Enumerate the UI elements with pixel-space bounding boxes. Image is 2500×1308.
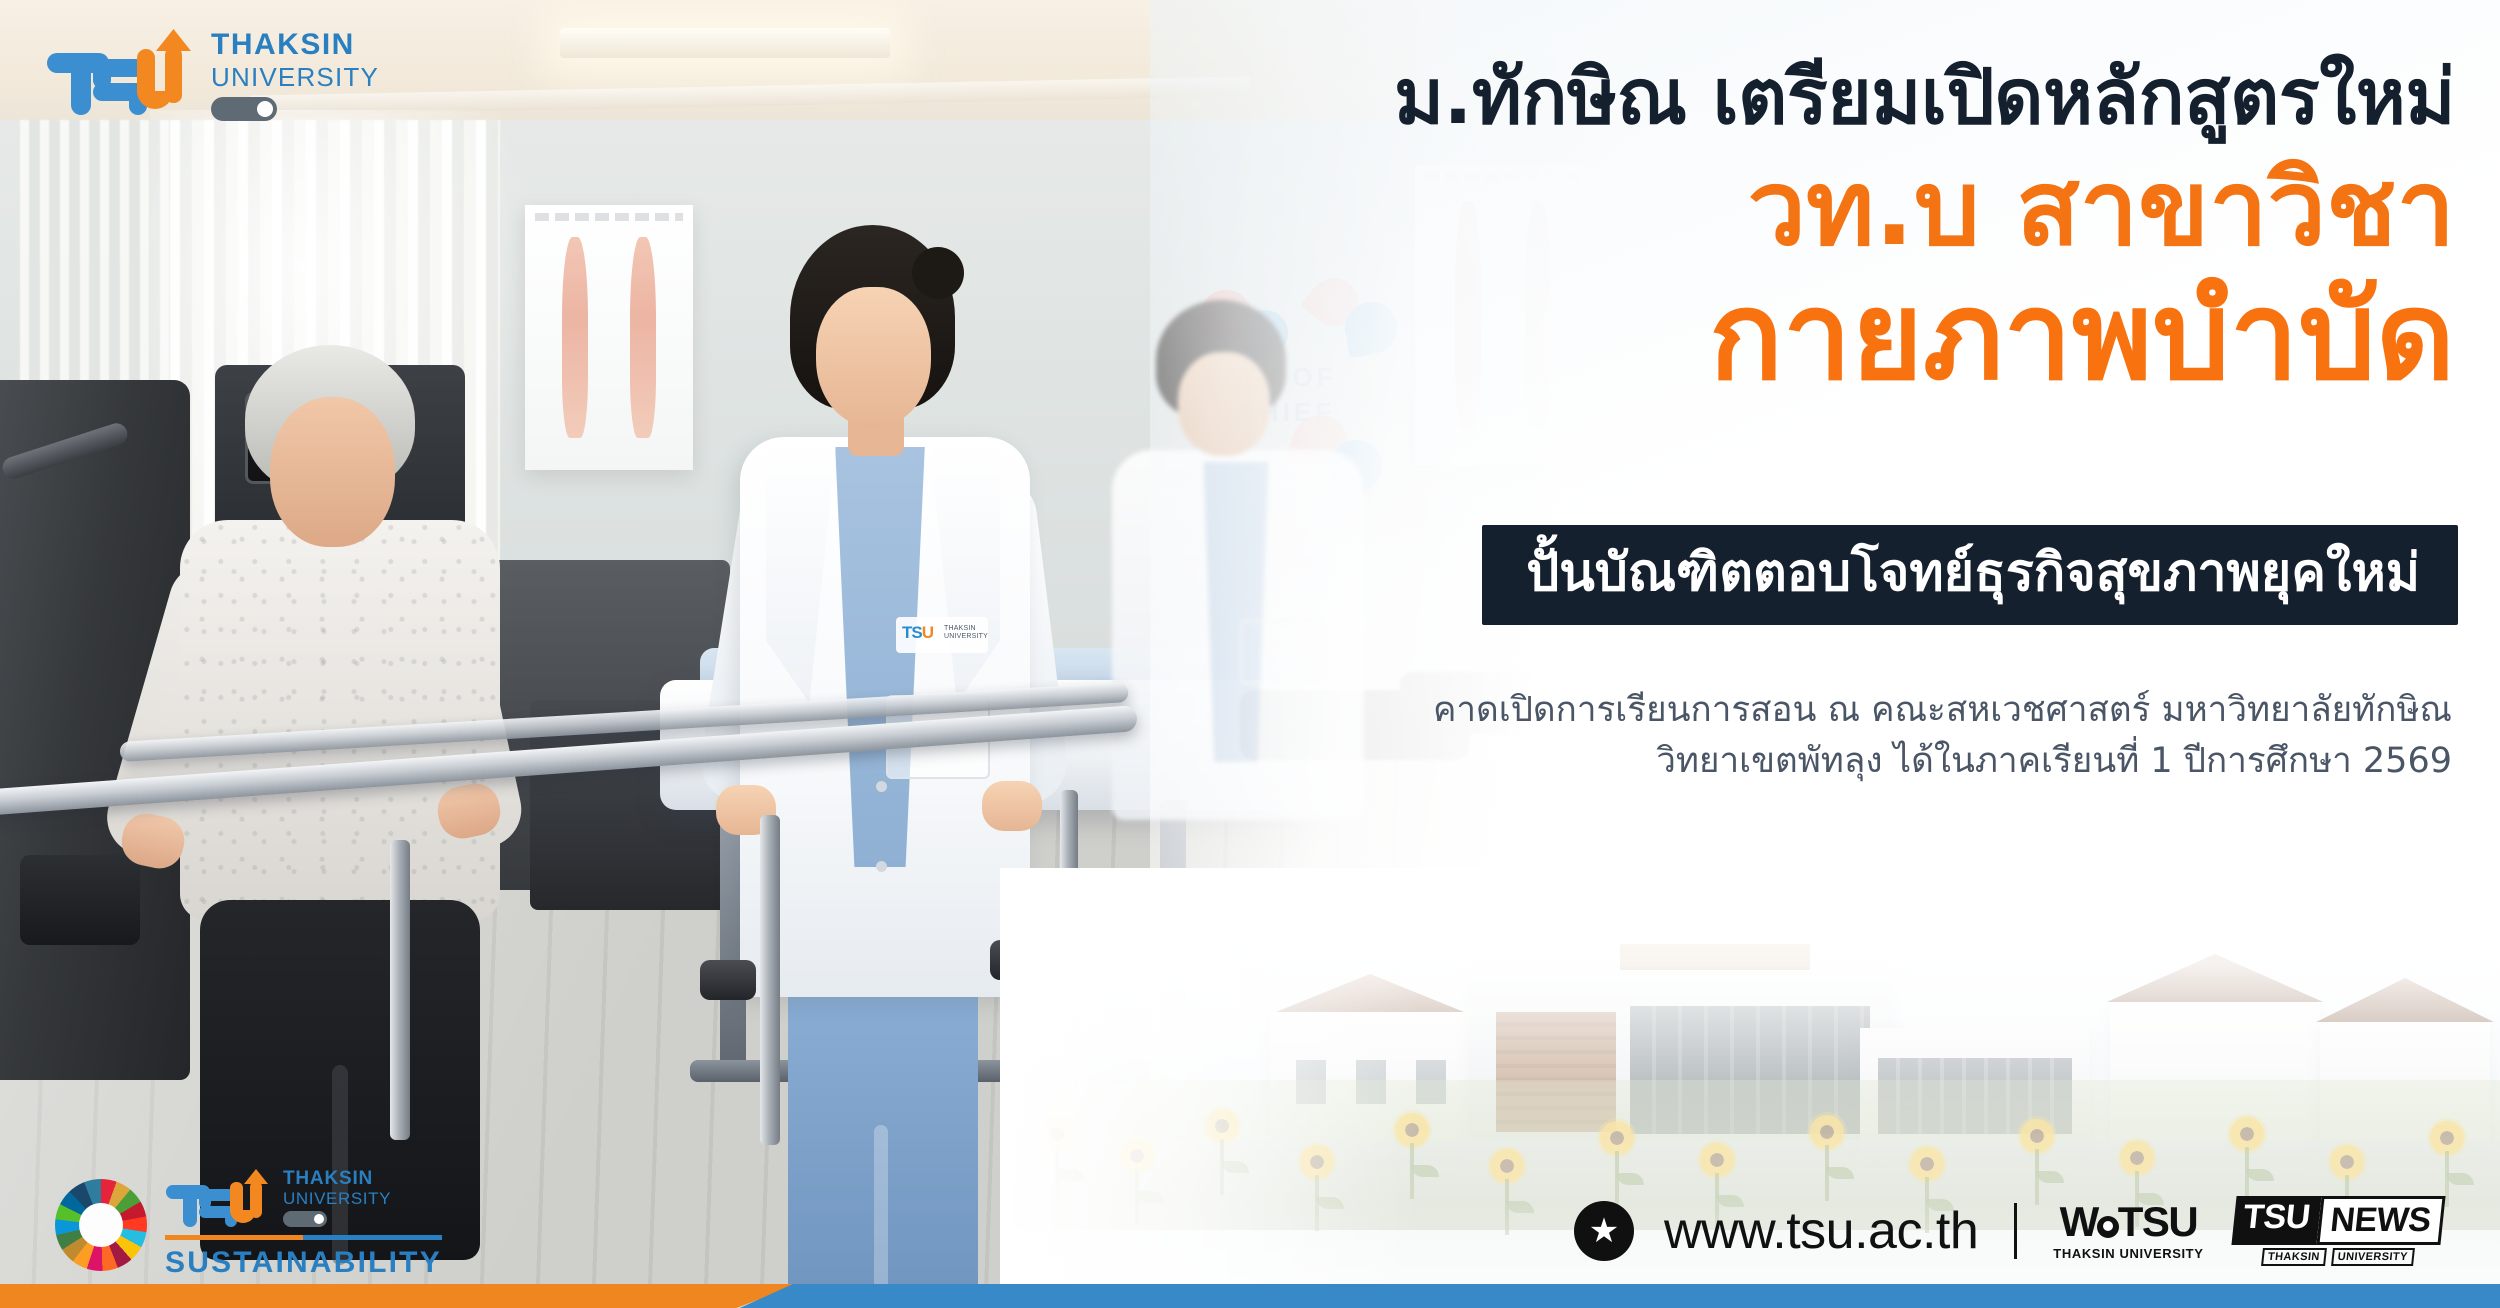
coat-badge-caption-line2: UNIVERSITY (944, 633, 988, 641)
wetsu-we-letter: W (2060, 1198, 2098, 1245)
wetsu-wordmark: WTSU (2060, 1201, 2198, 1243)
campus-white-veil-left (1000, 868, 1420, 1308)
therapist-face (816, 287, 931, 427)
promo-banner: TV OF THIEF (0, 0, 2500, 1308)
tsu-logo-line-1: THAKSIN (211, 30, 379, 60)
ceiling-light (560, 28, 890, 58)
sustainability-text-block: THAKSIN UNIVERSITY SUSTAINABILITY (165, 1169, 442, 1280)
coat-badge-initials: TSU (902, 623, 933, 643)
tsu-news-news: NEWS (2315, 1196, 2444, 1245)
enrollment-note: คาดเปิดการเรียนการสอน ณ คณะสหเวชศาสตร์ ม… (1433, 685, 2452, 787)
headline-line-2: วท.บ สาขาวิชา (1215, 152, 2455, 264)
coat-badge-caption-line1: THAKSIN (944, 625, 988, 633)
wetsu-subcaption: THAKSIN UNIVERSITY (2053, 1246, 2203, 1261)
divider-orange-segment (165, 1235, 303, 1240)
star-glyph: ★ (1589, 1214, 1619, 1248)
tsu-logo-line-2: UNIVERSITY (211, 64, 379, 90)
tsu-logo-header[interactable]: THAKSIN UNIVERSITY (45, 22, 379, 121)
therapist-hair-bun (912, 247, 964, 299)
tsu-logo-mark-icon (45, 29, 197, 115)
patient-face (270, 397, 395, 547)
tsu-news-subcaption: THAKSIN UNIVERSITY (2261, 1248, 2415, 1266)
tsu-news-wordmark: TSU NEWS (2231, 1196, 2445, 1245)
footer-links: ★ www.tsu.ac.th WTSU THAKSIN UNIVERSITY … (1574, 1196, 2442, 1266)
enrollment-note-line-1: คาดเปิดการเรียนการสอน ณ คณะสหเวชศาสตร์ ม… (1433, 685, 2452, 736)
subtitle-badge-text: ปั้นบัณฑิตตอบโจทย์ธุรกิจสุขภาพยุคใหม่ (1526, 547, 2420, 599)
bottom-stripe-orange (0, 1284, 800, 1308)
poster-figure (630, 237, 656, 438)
sustainability-logo[interactable]: THAKSIN UNIVERSITY SUSTAINABILITY (55, 1169, 442, 1280)
bottom-stripe (0, 1284, 2500, 1308)
therapist-hand-right (982, 781, 1042, 831)
therapist-coat-logo-badge: TSU THAKSIN UNIVERSITY (896, 617, 988, 653)
sustainability-word: SUSTAINABILITY (165, 1246, 442, 1280)
headline-line-1: ม.ทักษิณ เตรียมเปิดหลักสูตรใหม่ (1215, 58, 2455, 136)
sustainability-line-2: UNIVERSITY (283, 1190, 391, 1207)
enrollment-note-line-2: วิทยาเขตพัทลุง ได้ในภาคเรียนที่ 1 ปีการศ… (1433, 736, 2452, 787)
tsu-news-sub-right: UNIVERSITY (2331, 1248, 2415, 1266)
tsu-news-sub-left: THAKSIN (2261, 1248, 2327, 1266)
headline-block: ม.ทักษิณ เตรียมเปิดหลักสูตรใหม่ วท.บ สาข… (1215, 58, 2455, 400)
sustainability-top-row: THAKSIN UNIVERSITY (165, 1169, 442, 1227)
therapist-coat-button (876, 861, 887, 872)
parallel-bar-post (390, 840, 410, 1140)
patient-torso (180, 520, 500, 920)
tsu-logo-mark-small-icon (165, 1169, 273, 1227)
tsu-news-tsu: TSU (2231, 1196, 2321, 1245)
bottom-stripe-blue (740, 1284, 2500, 1308)
parallel-bar-adjust-knob (700, 960, 756, 1000)
sdg-wheel-icon (55, 1179, 147, 1271)
poster-caption-bar (535, 213, 683, 221)
tsu-logo-toggle-icon (211, 97, 277, 121)
tsu-news-logo[interactable]: TSU NEWS THAKSIN UNIVERSITY (2234, 1196, 2443, 1266)
footer-divider (2014, 1203, 2017, 1259)
poster-figure (562, 237, 588, 438)
wetsu-e-icon (2097, 1216, 2119, 1238)
star-icon: ★ (1574, 1201, 1634, 1261)
elderly-patient (120, 345, 560, 1265)
website-url[interactable]: www.tsu.ac.th (1664, 1201, 1978, 1261)
sustainability-line-1: THAKSIN (283, 1169, 391, 1188)
sustainability-divider (165, 1235, 442, 1240)
subtitle-badge: ปั้นบัณฑิตตอบโจทย์ธุรกิจสุขภาพยุคใหม่ (1482, 525, 2458, 625)
wetsu-tsu-letters: TSU (2118, 1198, 2198, 1245)
headline-line-3: กายภาพบำบัด (1215, 272, 2455, 400)
therapist-coat-button (876, 781, 887, 792)
divider-blue-segment (303, 1235, 441, 1240)
sustainability-wordmark: THAKSIN UNIVERSITY (283, 1169, 391, 1227)
therapist-trouser-seam (874, 1125, 888, 1308)
wetsu-logo[interactable]: WTSU THAKSIN UNIVERSITY (2053, 1201, 2203, 1261)
coat-badge-caption: THAKSIN UNIVERSITY (944, 625, 988, 641)
sustainability-toggle-icon (283, 1211, 327, 1227)
tsu-logo-wordmark: THAKSIN UNIVERSITY (211, 22, 379, 121)
parallel-bar-post (760, 815, 780, 1145)
